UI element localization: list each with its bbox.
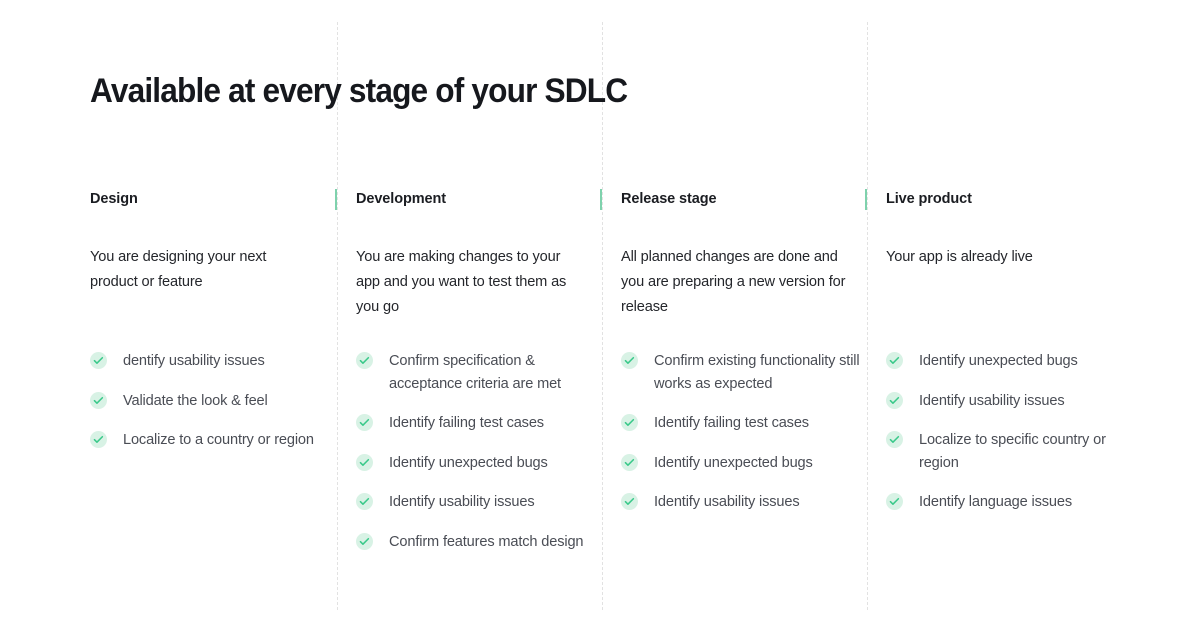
check-circle-icon [356, 352, 373, 369]
list-item: Identify usability issues [886, 390, 1149, 413]
list-item-label: Identify unexpected bugs [389, 455, 548, 471]
list-item: Identify unexpected bugs [621, 452, 869, 475]
list-item-label: Confirm specification & acceptance crite… [389, 353, 561, 392]
list-item-label: Identify unexpected bugs [654, 455, 813, 471]
list-item-label: Identify unexpected bugs [919, 353, 1078, 369]
list-item-label: Identify failing test cases [654, 415, 809, 431]
stage-description-release-stage: All planned changes are done and you are… [621, 216, 849, 320]
list-item: Identify usability issues [356, 491, 594, 514]
stage-heading-release-stage: Release stage [621, 186, 853, 216]
stage-heading-label: Design [90, 191, 138, 207]
list-item: Identify failing test cases [621, 412, 869, 435]
list-item: Identify usability issues [621, 491, 869, 514]
check-circle-icon [356, 454, 373, 471]
stage-description-live-product: Your app is already live [886, 216, 1126, 270]
stage-heading-live-product: Live product [886, 186, 1126, 216]
list-item-label: dentify usability issues [123, 353, 265, 369]
list-item: Identify language issues [886, 491, 1149, 514]
check-circle-icon [886, 392, 903, 409]
accent-bar-icon [600, 189, 602, 210]
stage-list-development: Confirm specification & acceptance crite… [356, 350, 588, 570]
stage-column-design: Design You are designing your next produ… [90, 186, 305, 295]
list-item: Validate the look & feel [90, 390, 321, 413]
stage-list-release-stage: Confirm existing functionality still wor… [621, 350, 853, 531]
list-item-label: Identify usability issues [919, 393, 1065, 409]
stage-list-live-product: Identify unexpected bugs Identify usabil… [886, 350, 1126, 531]
list-item: Identify failing test cases [356, 412, 594, 435]
stage-heading-design: Design [90, 186, 305, 216]
column-divider-3 [867, 22, 868, 610]
list-item: Identify unexpected bugs [886, 350, 1149, 373]
list-item: Confirm features match design [356, 531, 594, 554]
stage-column-development: Development You are making changes to yo… [356, 186, 588, 320]
accent-bar-icon [865, 189, 867, 210]
check-circle-icon [90, 431, 107, 448]
stage-heading-label: Release stage [621, 191, 716, 207]
list-item-label: Localize to specific country or region [919, 432, 1106, 471]
list-item: dentify usability issues [90, 350, 321, 373]
list-item: Localize to specific country or region [886, 429, 1149, 474]
stage-column-live-product: Live product Your app is already live Id… [886, 186, 1126, 270]
list-item: Identify unexpected bugs [356, 452, 594, 475]
list-item-label: Localize to a country or region [123, 432, 314, 448]
list-item: Confirm specification & acceptance crite… [356, 350, 594, 395]
list-item-label: Identify language issues [919, 494, 1072, 510]
check-circle-icon [886, 431, 903, 448]
stage-list-design: dentify usability issues Validate the lo… [90, 350, 305, 469]
check-circle-icon [356, 493, 373, 510]
check-circle-icon [886, 493, 903, 510]
check-circle-icon [621, 352, 638, 369]
check-circle-icon [356, 414, 373, 431]
check-circle-icon [90, 392, 107, 409]
list-item-label: Validate the look & feel [123, 393, 268, 409]
stage-column-release-stage: Release stage All planned changes are do… [621, 186, 853, 320]
list-item-label: Identify usability issues [389, 494, 535, 510]
check-circle-icon [621, 493, 638, 510]
list-item: Confirm existing functionality still wor… [621, 350, 869, 395]
list-item: Localize to a country or region [90, 429, 321, 452]
page-root: Available at every stage of your SDLC De… [0, 0, 1200, 630]
list-item-label: Confirm features match design [389, 534, 583, 550]
check-circle-icon [90, 352, 107, 369]
list-item-label: Identify failing test cases [389, 415, 544, 431]
stage-description-development: You are making changes to your app and y… [356, 216, 588, 320]
stage-heading-development: Development [356, 186, 588, 216]
check-circle-icon [886, 352, 903, 369]
list-item-label: Confirm existing functionality still wor… [654, 353, 859, 392]
check-circle-icon [621, 414, 638, 431]
stage-description-design: You are designing your next product or f… [90, 216, 295, 295]
accent-bar-icon [335, 189, 337, 210]
stage-heading-label: Live product [886, 191, 972, 207]
check-circle-icon [621, 454, 638, 471]
list-item-label: Identify usability issues [654, 494, 800, 510]
stage-heading-label: Development [356, 191, 446, 207]
page-title: Available at every stage of your SDLC [90, 72, 627, 111]
check-circle-icon [356, 533, 373, 550]
